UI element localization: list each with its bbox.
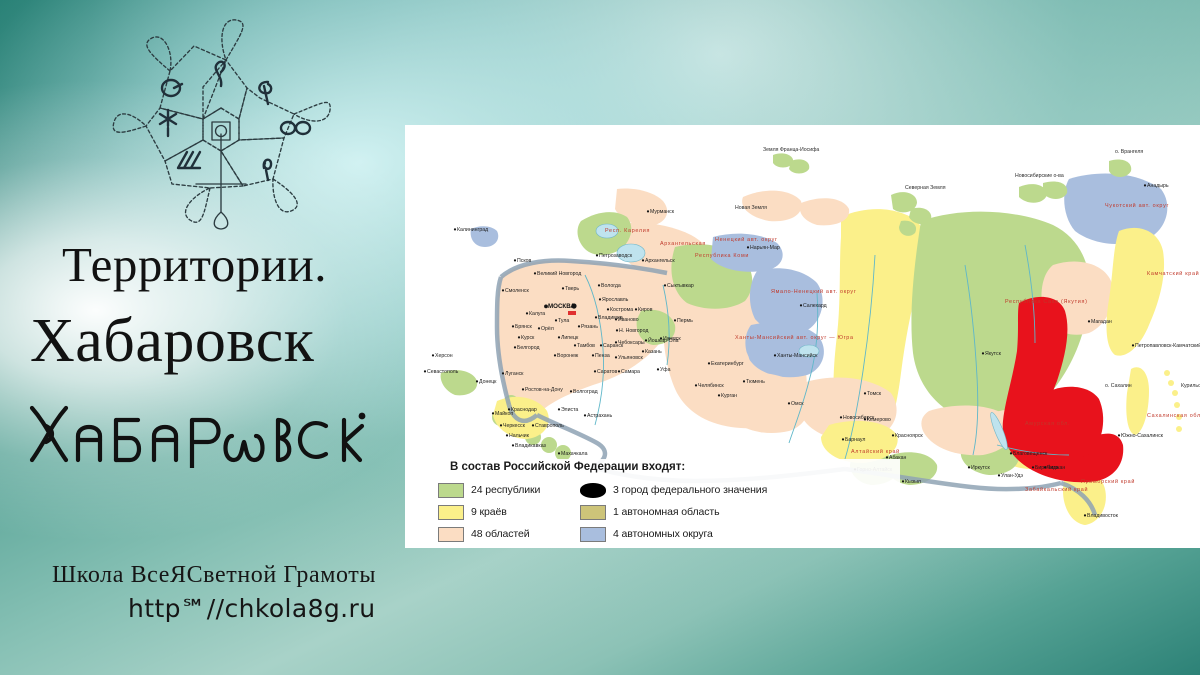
map-label-geo: Северная Земля <box>905 185 946 191</box>
footer-school-name: Школа ВсеЯСветной Грамоты <box>52 562 376 589</box>
map-label-city: Мурманск <box>650 209 675 215</box>
map-city-dot <box>514 346 516 348</box>
map-label-region: Приморский край <box>1081 478 1135 485</box>
legend-item-krais: 9 краёв <box>438 502 540 522</box>
map-city-dot <box>526 312 528 314</box>
map-label-city: Кызыл <box>905 479 921 485</box>
map-label-city: Кемерово <box>867 417 891 423</box>
map-label-city: Иваново <box>618 317 639 323</box>
map-city-dot <box>514 259 516 261</box>
map-city-dot <box>840 416 842 418</box>
map-label-city: Нальчик <box>509 433 530 439</box>
map-label-city: Ульяновск <box>618 355 644 361</box>
map-label-city: Кострома <box>610 307 633 313</box>
legend-item-autonomous-oblast: 1 автономная область <box>580 502 767 522</box>
map-city-dot <box>592 354 594 356</box>
map-label-city: Курган <box>721 393 737 399</box>
map-label-city: Иркутск <box>971 465 990 471</box>
map-label-city: Барнаул <box>845 437 865 443</box>
map-label-city: Ярославль <box>602 297 629 303</box>
legend-label-autonomous-oblast: 1 автономная область <box>613 506 719 518</box>
map-label-city: Саратов <box>597 369 618 375</box>
map-label-city: Казань <box>645 349 662 355</box>
map-label-city: Калининград <box>457 227 488 233</box>
map-city-dot <box>599 298 601 300</box>
legend-swatch-republics <box>438 483 464 498</box>
map-city-dot <box>618 370 620 372</box>
legend-swatch-federal-cities <box>580 483 606 498</box>
map-city-dot <box>522 388 524 390</box>
map-label-city: Петрозаводск <box>599 253 633 259</box>
footer-website-url[interactable]: http℠//chkola8g.ru <box>128 594 375 623</box>
map-city-dot <box>512 444 514 446</box>
vseyasvetnaya-mandala-icon <box>108 16 334 231</box>
map-city-dot <box>657 368 659 370</box>
map-label-city: Владикавказ <box>515 443 547 449</box>
map-city-dot <box>642 350 644 352</box>
map-city-dot <box>574 344 576 346</box>
map-label-region: Республика Саха (Якутия) <box>1005 299 1088 305</box>
map-city-dot <box>506 434 508 436</box>
map-city-dot <box>718 394 720 396</box>
map-city-dot <box>1132 344 1134 346</box>
map-label-city: Благовещенск <box>1013 451 1048 457</box>
map-city-dot <box>743 380 745 382</box>
map-city-dot <box>1032 466 1034 468</box>
map-label-region: Сахалинская обл. <box>1147 413 1200 419</box>
legend-label-autonomous-okrugs: 4 автономных округа <box>613 528 713 540</box>
map-label-capital: МОСКВА <box>548 303 575 310</box>
legend-item-republics: 24 республики <box>438 480 540 500</box>
map-city-dot <box>616 329 618 331</box>
map-label-city: Белгород <box>517 345 540 351</box>
map-city-dot <box>695 384 697 386</box>
map-city-dot <box>800 304 802 306</box>
map-label-city: Псков <box>517 258 532 264</box>
map-label-city: Смоленск <box>505 288 529 294</box>
map-label-city: Ханты-Мансийск <box>777 352 818 359</box>
map-city-dot <box>492 412 494 414</box>
legend-label-krais: 9 краёв <box>471 506 507 518</box>
map-label-city: Улан-Удэ <box>1001 473 1023 479</box>
city-name-vseyasvetnica-glyphs <box>26 396 406 468</box>
map-label-city: Томск <box>867 391 882 397</box>
map-label-city: Владивосток <box>1087 513 1119 519</box>
map-label-city: Красноярск <box>895 433 923 439</box>
legend-item-federal-cities: 3 город федерального значения <box>580 480 767 500</box>
map-city-dot <box>600 344 602 346</box>
map-label-city: Элиста <box>561 407 578 413</box>
map-city-dot <box>584 414 586 416</box>
map-city-dot <box>864 392 866 394</box>
map-label-city: Пенза <box>595 353 610 359</box>
map-label-city: Севастополь <box>427 369 459 375</box>
map-city-dot <box>562 287 564 289</box>
legend-title: В состав Российской Федерации входят: <box>450 461 685 473</box>
legend-swatch-autonomous-oblast <box>580 505 606 520</box>
map-label-region: Респ. Карелия <box>605 228 650 234</box>
map-city-dot <box>432 354 434 356</box>
map-label-city: Архангельск <box>645 258 675 264</box>
map-city-dot <box>500 424 502 426</box>
map-label-city: Великий Новгород <box>537 270 581 277</box>
map-city-dot <box>902 480 904 482</box>
map-label-region: Ханты-Мансийский авт. округ — Югра <box>735 334 854 341</box>
map-city-dot <box>1088 320 1090 322</box>
map-city-dot <box>968 466 970 468</box>
map-city-dot <box>558 452 560 454</box>
map-label-city: Орёл <box>541 326 554 332</box>
map-city-dot <box>660 337 662 339</box>
map-label-geo: о. Сахалин <box>1105 383 1132 389</box>
map-label-city: Киров <box>638 307 653 313</box>
map-label-city: Биробиджан <box>1035 465 1065 471</box>
map-label-city: Волгоград <box>573 389 598 395</box>
map-label-city: Липецк <box>561 335 579 341</box>
map-legend: В состав Российской Федерации входят: 24… <box>432 459 900 542</box>
map-label-geo: Курильские о-ва <box>1181 383 1200 389</box>
map-label-city: Махачкала <box>561 451 588 457</box>
map-label-city: Челябинск <box>698 383 724 389</box>
legend-item-autonomous-okrugs: 4 автономных округа <box>580 524 767 544</box>
map-label-city: Майкоп <box>495 410 513 417</box>
map-label-city: Курск <box>521 335 535 341</box>
map-label-city: Донецк <box>479 379 497 385</box>
map-label-city: Самара <box>621 369 640 375</box>
map-city-dot <box>534 272 536 274</box>
map-city-dot <box>645 339 647 341</box>
map-city-dot <box>570 390 572 392</box>
map-city-dot <box>615 356 617 358</box>
map-city-dot <box>982 352 984 354</box>
map-label-city: Салехард <box>803 303 827 309</box>
map-label-region: Архангельская <box>660 241 706 247</box>
map-label-city: Калуга <box>529 311 545 317</box>
map-label-city: Астрахань <box>587 413 612 419</box>
map-label-geo: Новосибирские о-ва <box>1015 173 1064 179</box>
map-label-city: Нарьян-Мар <box>750 245 780 251</box>
map-city-dot <box>998 474 1000 476</box>
map-label-city: Анадырь <box>1147 183 1169 189</box>
presentation-slide: Территории. Хабаровск <box>0 0 1200 675</box>
legend-column-right: 3 город федерального значения 1 автономн… <box>580 480 767 546</box>
map-city-dot <box>578 325 580 327</box>
legend-swatch-oblasts <box>438 527 464 542</box>
map-city-dot <box>555 319 557 321</box>
map-label-city: Луганск <box>505 371 524 377</box>
map-city-dot <box>558 336 560 338</box>
map-label-city: Петропавловск-Камчатский <box>1135 342 1200 349</box>
map-city-dot <box>558 408 560 410</box>
map-label-city: Брянск <box>515 324 532 330</box>
map-label-city: Рязань <box>581 324 598 330</box>
map-label-region: Чукотский авт. округ <box>1105 202 1169 209</box>
page-title-heading: Территории. <box>62 236 327 293</box>
legend-label-oblasts: 48 областей <box>471 528 530 540</box>
map-city-dot <box>424 370 426 372</box>
map-label-city: Ижевск <box>663 336 681 342</box>
map-city-dot <box>502 289 504 291</box>
map-label-city: Екатеринбург <box>711 361 744 367</box>
map-label-city: Н. Новгород <box>619 328 648 334</box>
map-city-dot <box>674 319 676 321</box>
legend-label-republics: 24 республики <box>471 484 540 496</box>
map-city-dot <box>1084 514 1086 516</box>
map-city-dot <box>708 362 710 364</box>
map-label-city: Ставрополь <box>535 423 564 429</box>
map-city-dot <box>476 380 478 382</box>
legend-column-left: 24 республики 9 краёв 48 областей <box>438 480 540 546</box>
legend-label-federal-cities: 3 город федерального значения <box>613 484 767 496</box>
map-city-dot <box>512 325 514 327</box>
map-city-dot <box>532 424 534 426</box>
map-label-city: Тюмень <box>746 379 765 385</box>
map-city-dot <box>747 246 749 248</box>
map-city-dot <box>598 284 600 286</box>
map-label-city: Херсон <box>435 353 453 359</box>
map-city-dot <box>595 316 597 318</box>
map-city-dot <box>842 438 844 440</box>
map-label-city: Черкесск <box>503 423 526 429</box>
map-city-dot <box>635 308 637 310</box>
map-label-region: Ненецкий авт. округ <box>715 236 778 243</box>
map-label-city: Вологда <box>601 283 621 289</box>
map-city-dot <box>1010 452 1012 454</box>
map-label-city: Сыктывкар <box>667 283 694 289</box>
map-label-region: Амурская обл. <box>1025 421 1070 427</box>
map-label-city: Тула <box>558 318 569 324</box>
map-label-geo: о. Врангеля <box>1115 149 1143 155</box>
map-label-city: Пермь <box>677 318 693 324</box>
map-city-dot <box>596 254 598 256</box>
map-label-region: Ямало-Ненецкий авт. округ <box>771 288 857 295</box>
map-city-dot <box>538 327 540 329</box>
map-label-region: Алтайский край <box>851 448 900 455</box>
map-city-dot <box>647 210 649 212</box>
legend-item-oblasts: 48 областей <box>438 524 540 544</box>
map-city-dot <box>642 259 644 261</box>
map-label-city: Ростов-на-Дону <box>525 387 563 393</box>
legend-swatch-autonomous-okrugs <box>580 527 606 542</box>
map-city-dot <box>788 402 790 404</box>
map-label-city: Якутск <box>985 351 1002 357</box>
legend-swatch-krais <box>438 505 464 520</box>
map-city-dot <box>594 370 596 372</box>
map-city-dot <box>774 354 776 356</box>
map-label-region: Забайкальский край <box>1025 486 1088 493</box>
map-label-city: Краснодар <box>511 407 537 413</box>
map-label-region: Республика Коми <box>695 253 749 259</box>
map-city-dot <box>554 354 556 356</box>
map-city-dot <box>1144 184 1146 186</box>
map-city-dot <box>864 418 866 420</box>
map-city-dot <box>1118 434 1120 436</box>
map-label-city: Омск <box>791 401 804 407</box>
map-label-city: Уфа <box>660 367 671 373</box>
map-city-dot <box>454 228 456 230</box>
map-label-city: Воронеж <box>557 353 579 359</box>
map-label-city: Тамбов <box>577 343 595 349</box>
map-city-dot <box>518 336 520 338</box>
map-label-region: Камчатский край <box>1147 270 1199 277</box>
map-label-city: Саранск <box>603 343 624 349</box>
map-city-dot <box>502 372 504 374</box>
russia-federal-subjects-map[interactable]: .rep{fill:#bcd98d;} .kray{fill:#fbf08a;}… <box>405 125 1200 548</box>
map-label-city: Тверь <box>565 286 579 292</box>
map-city-dot <box>664 284 666 286</box>
city-name-cyrillic: Хабаровск <box>30 306 314 377</box>
map-label-city: Магадан <box>1091 319 1112 325</box>
map-label-geo: Земля Франца-Иосифа <box>763 147 819 153</box>
map-city-dot <box>607 308 609 310</box>
map-city-dot <box>615 318 617 320</box>
map-label-geo: Новая Земля <box>735 205 767 211</box>
map-label-city: Южно-Сахалинск <box>1121 433 1164 439</box>
map-city-dot <box>892 434 894 436</box>
